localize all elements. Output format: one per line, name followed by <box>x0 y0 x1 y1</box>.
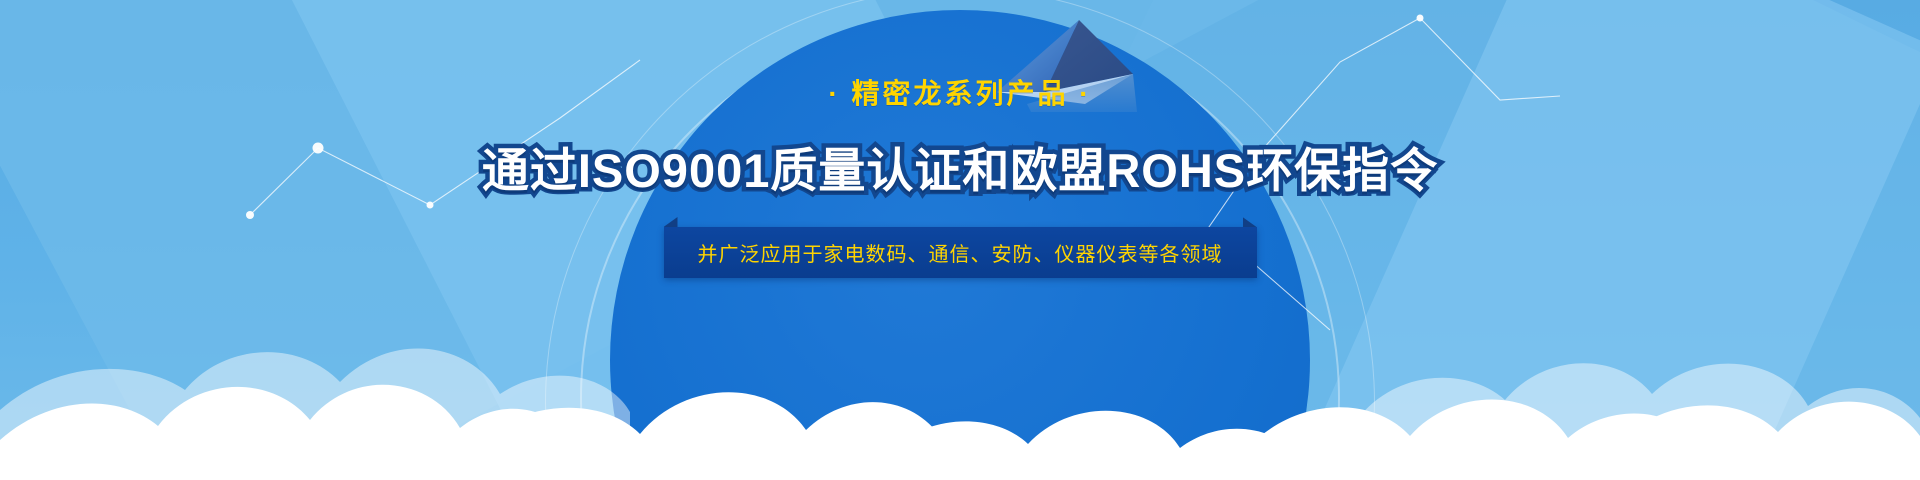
banner-eyebrow: · 精密龙系列产品 · <box>828 72 1091 112</box>
banner-content: · 精密龙系列产品 · 通过ISO9001质量认证和欧盟ROHS环保指令 并广泛… <box>0 0 1920 480</box>
banner-headline: 通过ISO9001质量认证和欧盟ROHS环保指令 <box>482 132 1438 201</box>
promo-banner: · 精密龙系列产品 · 通过ISO9001质量认证和欧盟ROHS环保指令 并广泛… <box>0 0 1920 480</box>
banner-subbar: 并广泛应用于家电数码、通信、安防、仪器仪表等各领域 <box>664 227 1257 278</box>
banner-subbar-text: 并广泛应用于家电数码、通信、安防、仪器仪表等各领域 <box>698 244 1223 266</box>
